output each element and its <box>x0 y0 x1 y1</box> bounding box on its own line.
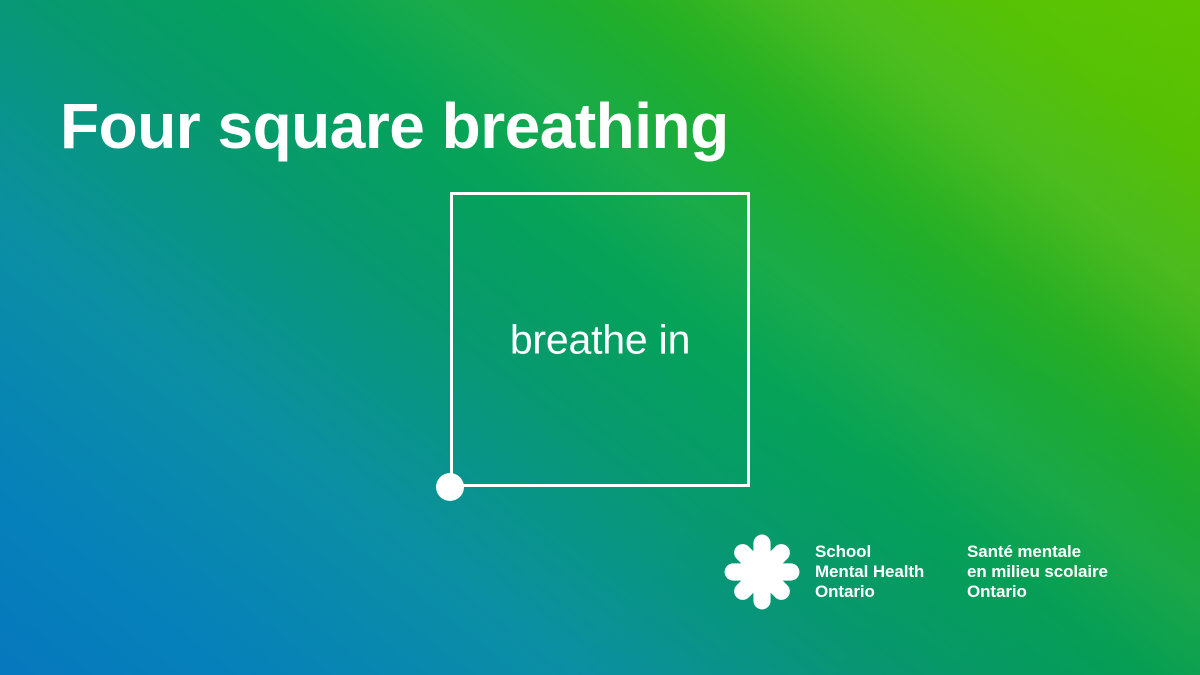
logo-en-line-1: School <box>815 542 967 562</box>
smho-asterisk-icon <box>723 533 801 611</box>
logo-fr-line-3: Ontario <box>967 582 1108 602</box>
logo-wordmark: School Mental Health Ontario Santé menta… <box>801 542 1108 602</box>
logo-wordmark-french: Santé mentale en milieu scolaire Ontario <box>967 542 1108 602</box>
logo-fr-line-1: Santé mentale <box>967 542 1108 562</box>
breathing-square: breathe in <box>450 192 750 487</box>
progress-dot <box>436 473 464 501</box>
breathing-step-label: breathe in <box>450 316 750 363</box>
logo-en-line-3: Ontario <box>815 582 967 602</box>
slide-canvas: Four square breathing breathe in <box>0 0 1200 675</box>
smho-logo: School Mental Health Ontario Santé menta… <box>723 533 1108 611</box>
logo-fr-line-2: en milieu scolaire <box>967 562 1108 582</box>
logo-wordmark-english: School Mental Health Ontario <box>815 542 967 602</box>
logo-en-line-2: Mental Health <box>815 562 967 582</box>
page-title: Four square breathing <box>60 93 729 160</box>
